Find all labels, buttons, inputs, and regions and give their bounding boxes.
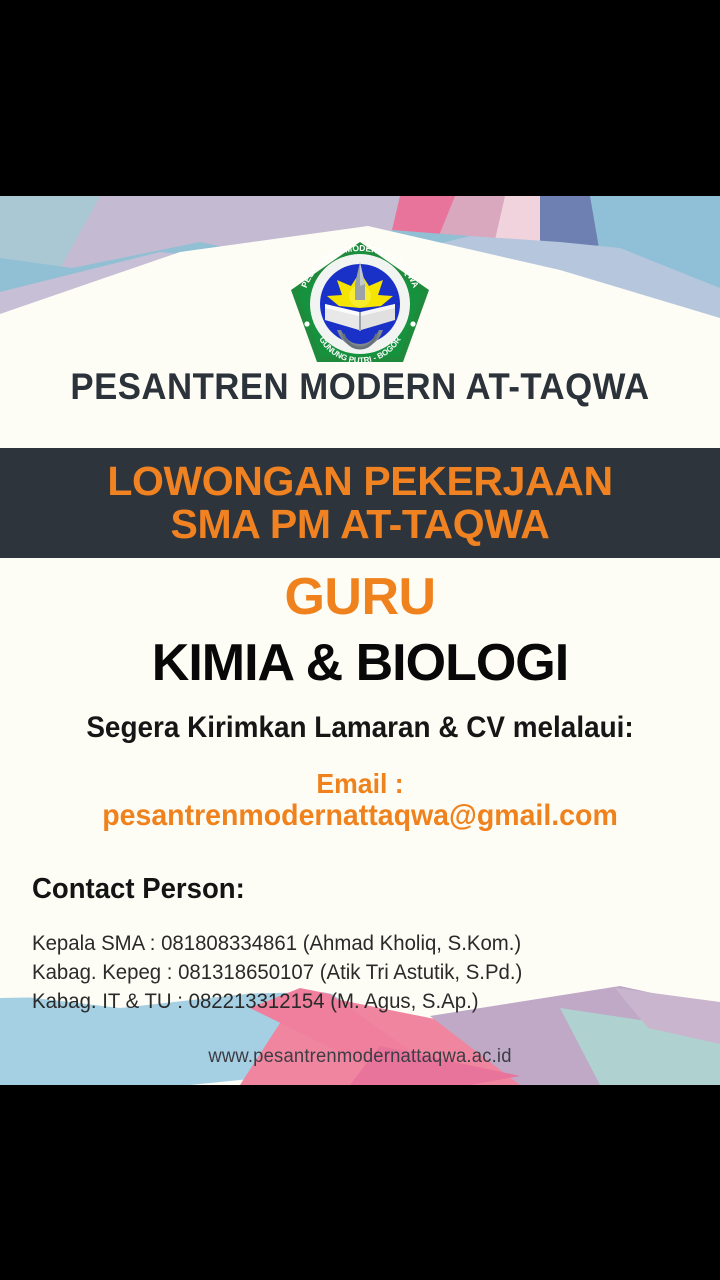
institution-name: PESANTREN MODERN AT-TAQWA [22,366,699,408]
subject-title: KIMIA & BIOLOGI [0,633,720,693]
contact-row: Kepala SMA : 081808334861 (Ahmad Kholiq,… [32,930,522,959]
contact-row: Kabag. IT & TU : 082213312154 (M. Agus, … [32,988,522,1017]
poster-frame: PESANTREN MODERN AT-TAQWA GUNUNG PUTRI -… [0,0,720,1280]
position-title: GURU [0,567,720,627]
logo-block: PESANTREN MODERN AT-TAQWA GUNUNG PUTRI -… [0,238,720,371]
poster-canvas: PESANTREN MODERN AT-TAQWA GUNUNG PUTRI -… [0,196,720,1085]
school-crest-logo: PESANTREN MODERN AT-TAQWA GUNUNG PUTRI -… [285,238,435,366]
vacancy-banner-line-2: SMA PM AT-TAQWA [171,503,550,546]
letterbox-bar-top [0,0,720,196]
contact-row: Kabag. Kepeg : 081318650107 (Atik Tri As… [32,959,522,988]
contact-heading: Contact Person: [32,873,245,906]
email-block: Email : pesantrenmodernattaqwa@gmail.com [0,768,720,833]
website-url[interactable]: www.pesantrenmodernattaqwa.ac.id [11,1046,709,1068]
vacancy-banner: LOWONGAN PEKERJAAN SMA PM AT-TAQWA [0,448,720,558]
contact-list: Kepala SMA : 081808334861 (Ahmad Kholiq,… [32,930,522,1017]
vacancy-banner-line-1: LOWONGAN PEKERJAAN [107,460,612,503]
submit-instruction: Segera Kirimkan Lamaran & CV melalaui: [25,711,695,745]
email-label: Email : [18,768,702,799]
letterbox-bar-bottom [0,1085,720,1280]
email-address[interactable]: pesantrenmodernattaqwa@gmail.com [18,799,702,833]
